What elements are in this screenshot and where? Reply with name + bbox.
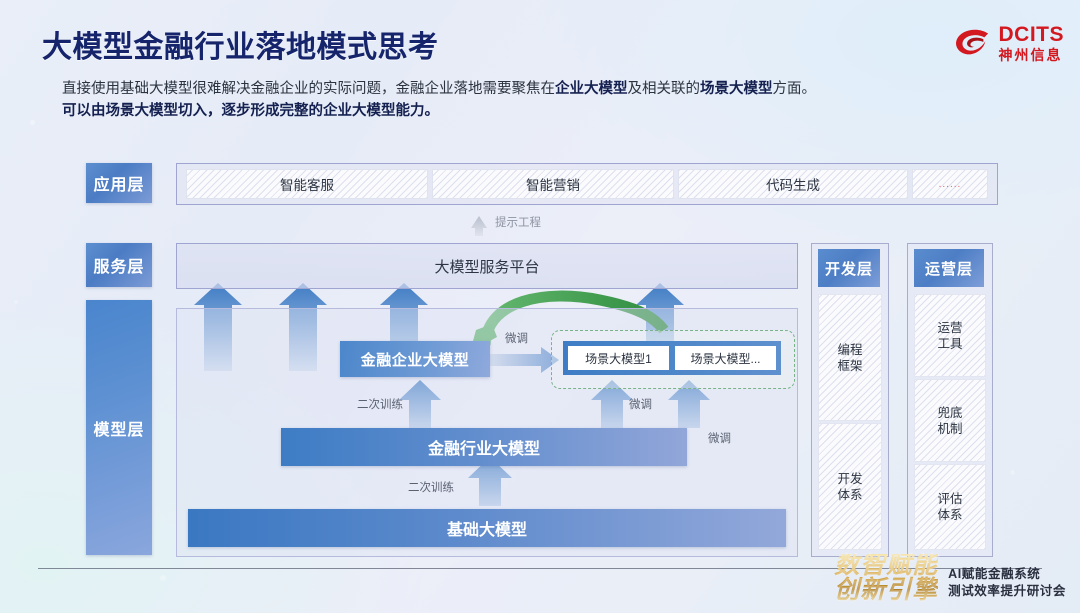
industry-model-bar[interactable]: 金融行业大模型 [281, 428, 687, 466]
background-fleck [160, 575, 166, 581]
subtitle-line-1: 直接使用基础大模型很难解决金融企业的实际问题，金融企业落地需要聚焦在企业大模型及… [62, 78, 1062, 100]
logo-en: DCITS [999, 24, 1065, 45]
brand-logo: DCITS 神州信息 [954, 24, 1065, 62]
background-fleck [14, 300, 18, 304]
layer-label-application: 应用层 [86, 163, 152, 203]
ops-column-head-label: 运营层 [925, 258, 973, 279]
caption-fine-tune-2: 微调 [629, 396, 652, 412]
caption-prompt-engineering: 提示工程 [495, 214, 541, 230]
layer-label-model-text: 模型层 [93, 416, 144, 440]
ops-column-head: 运营层 [914, 249, 984, 287]
subtitle-seg-d: 场景大模型 [700, 81, 773, 97]
application-item-1[interactable]: 智能营销 [432, 169, 674, 199]
scene-model-item-0[interactable]: 场景大模型1 [568, 346, 669, 370]
layer-label-model: 模型层 [86, 300, 152, 555]
application-item-3[interactable]: ...... [912, 169, 988, 199]
subtitle-line-2: 可以由场景大模型切入，逐步形成完整的企业大模型能力。 [62, 100, 1062, 122]
event-brand-sub-line1: AI赋能金融系统 [948, 566, 1066, 583]
industry-model-label: 金融行业大模型 [428, 435, 540, 459]
subtitle-seg-b: 企业大模型 [555, 81, 628, 97]
dev-cell-1-line1: 开发 [837, 471, 862, 487]
enterprise-model-label: 金融企业大模型 [361, 349, 470, 370]
event-brand-sub: AI赋能金融系统 测试效率提升研讨会 [948, 566, 1066, 603]
ops-cell-2-line1: 评估 [937, 491, 962, 507]
ops-cell-1[interactable]: 兜底 机制 [914, 379, 986, 462]
layer-label-service: 服务层 [86, 243, 152, 287]
slide-root: 大模型金融行业落地模式思考 直接使用基础大模型很难解决金融企业的实际问题，金融企… [0, 0, 1080, 613]
application-item-3-label: ...... [939, 179, 962, 190]
dev-cell-0[interactable]: 编程 框架 [818, 294, 882, 421]
logo-cn: 神州信息 [999, 48, 1065, 62]
scene-model-blue-box: 场景大模型1 场景大模型... [563, 341, 781, 375]
dev-cell-0-line2: 框架 [837, 358, 862, 374]
ops-cell-2[interactable]: 评估 体系 [914, 464, 986, 550]
ops-cell-0-line2: 工具 [937, 336, 962, 352]
application-item-2[interactable]: 代码生成 [678, 169, 908, 199]
scene-model-item-0-label: 场景大模型1 [585, 350, 652, 367]
caption-secondary-train-1: 二次训练 [357, 396, 403, 412]
application-item-1-label: 智能营销 [526, 174, 580, 194]
dev-cell-1[interactable]: 开发 体系 [818, 423, 882, 550]
enterprise-model-box[interactable]: 金融企业大模型 [340, 341, 490, 377]
page-title: 大模型金融行业落地模式思考 [42, 22, 439, 66]
arrow-prompt-engineering [471, 216, 487, 236]
event-brand-gold-line1: 数智赋能 [834, 554, 938, 578]
scene-model-item-1-label: 场景大模型... [690, 350, 760, 367]
ops-cell-2-line2: 体系 [937, 507, 962, 523]
layer-label-service-text: 服务层 [93, 253, 144, 277]
ops-cell-0-line1: 运营 [937, 320, 962, 336]
service-platform-label: 大模型服务平台 [434, 256, 539, 277]
dev-cell-1-line2: 体系 [837, 487, 862, 503]
application-item-2-label: 代码生成 [766, 174, 820, 194]
service-platform-panel[interactable]: 大模型服务平台 [176, 243, 798, 289]
ops-cell-1-line2: 机制 [937, 421, 962, 437]
background-fleck [1010, 470, 1015, 475]
ops-cell-0[interactable]: 运营 工具 [914, 294, 986, 377]
subtitle-seg-e: 方面。 [773, 81, 817, 97]
dcits-swirl-icon [954, 26, 992, 60]
event-brand-gold-line2: 创新引擎 [834, 579, 938, 603]
dev-cell-0-line1: 编程 [837, 342, 862, 358]
foundation-model-label: 基础大模型 [447, 516, 527, 540]
application-item-0-label: 智能客服 [280, 174, 334, 194]
caption-fine-tune-3: 微调 [708, 430, 731, 446]
caption-fine-tune-1: 微调 [505, 330, 528, 346]
event-brand: 数智赋能 创新引擎 AI赋能金融系统 测试效率提升研讨会 [834, 554, 1066, 604]
event-brand-sub-line2: 测试效率提升研讨会 [948, 583, 1066, 600]
ops-cell-1-line1: 兜底 [937, 405, 962, 421]
page-subtitle: 直接使用基础大模型很难解决金融企业的实际问题，金融企业落地需要聚焦在企业大模型及… [62, 78, 1062, 122]
scene-model-item-1[interactable]: 场景大模型... [675, 346, 776, 370]
foundation-model-bar[interactable]: 基础大模型 [188, 509, 786, 547]
subtitle-seg-a: 直接使用基础大模型很难解决金融企业的实际问题，金融企业落地需要聚焦在 [62, 81, 555, 97]
dev-column-head: 开发层 [818, 249, 880, 287]
logo-text: DCITS 神州信息 [999, 24, 1065, 62]
dev-column-head-label: 开发层 [825, 258, 873, 279]
layer-label-application-text: 应用层 [93, 171, 144, 195]
application-item-0[interactable]: 智能客服 [186, 169, 428, 199]
subtitle-seg-c: 及相关联的 [628, 81, 701, 97]
event-brand-gold: 数智赋能 创新引擎 [834, 554, 938, 604]
caption-secondary-train-2: 二次训练 [408, 479, 454, 495]
background-fleck [30, 120, 35, 125]
